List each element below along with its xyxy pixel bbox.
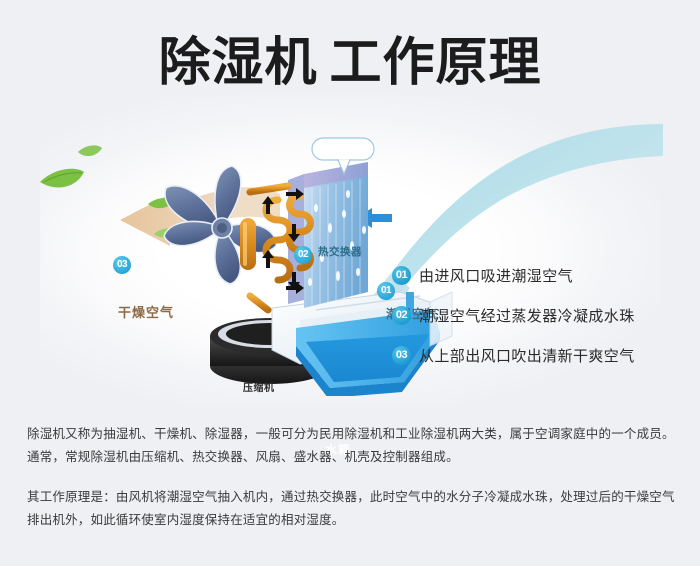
list-item: 03 从上部出风口吹出清新干爽空气: [392, 335, 692, 375]
list-item: 01 由进风口吸进潮湿空气: [392, 255, 692, 295]
compressor-cylinder: [240, 218, 256, 270]
step-badge-03: 03: [392, 346, 411, 365]
label-compressor: 压缩机: [243, 379, 275, 394]
label-dry-air: 干燥空气: [118, 302, 174, 321]
list-item: 02 潮湿空气经过蒸发器冷凝成水珠: [392, 295, 692, 335]
label-heat-exchanger: 热交换器: [318, 244, 362, 259]
description-block: 除湿机又称为抽湿机、干燥机、除湿器，一般可分为民用除湿机和工业除湿机两大类，属于…: [27, 423, 677, 532]
step-text-03: 从上部出风口吹出清新干爽空气: [419, 345, 635, 366]
step-list: 01 由进风口吸进潮湿空气 02 潮湿空气经过蒸发器冷凝成水珠 03 从上部出风…: [392, 255, 692, 375]
title-part-two: 工作原理: [330, 34, 542, 92]
paragraph-principle: 其工作原理是：由风机将潮湿空气抽入机内，通过热交换器，此时空气中的水分子冷凝成水…: [27, 486, 677, 532]
diagram-badge-03: 03: [113, 256, 131, 274]
infographic-page: 除湿机工作原理: [0, 0, 700, 566]
paragraph-definition: 除湿机又称为抽湿机、干燥机、除湿器，一般可分为民用除湿机和工业除湿机两大类，属于…: [27, 423, 677, 469]
step-text-01: 由进风口吸进潮湿空气: [419, 265, 573, 286]
diagram-badge-02: 02: [294, 246, 312, 264]
step-badge-02: 02: [392, 306, 411, 325]
page-title: 除湿机工作原理: [0, 34, 700, 92]
step-text-02: 潮湿空气经过蒸发器冷凝成水珠: [419, 305, 635, 326]
fan-icon: [164, 166, 276, 284]
title-part-one: 除湿机: [158, 34, 317, 92]
step-badge-01: 01: [392, 266, 411, 285]
